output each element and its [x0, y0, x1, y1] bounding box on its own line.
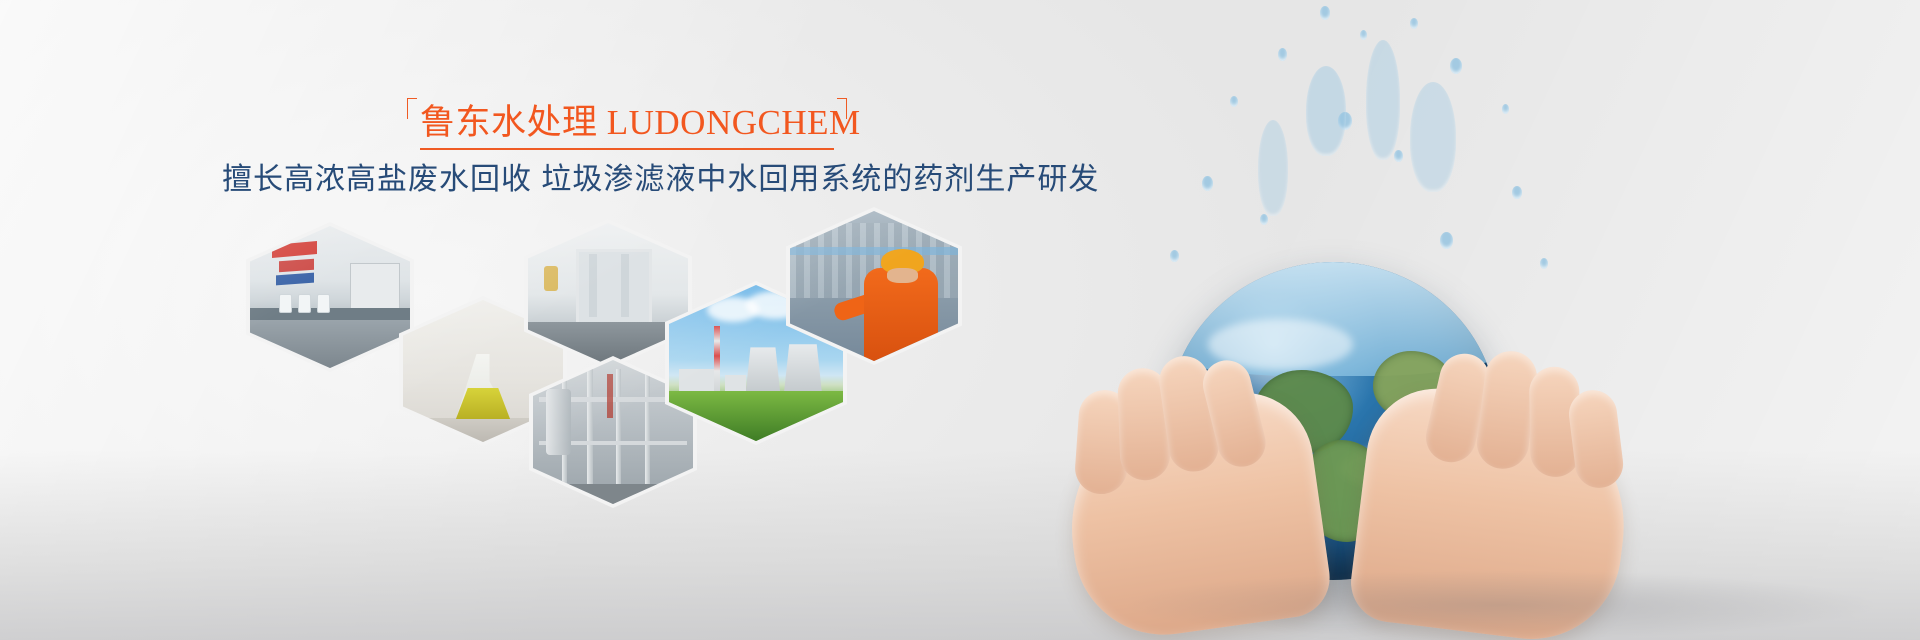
water-globe-artwork [1060, 0, 1920, 640]
ground-shadow [1120, 570, 1880, 640]
hex-gallery [0, 0, 1080, 640]
promo-banner: 鲁东水处理 LUDONGCHEM 擅长高浓高盐废水回收 垃圾渗滤液中水回用系统的… [0, 0, 1920, 640]
